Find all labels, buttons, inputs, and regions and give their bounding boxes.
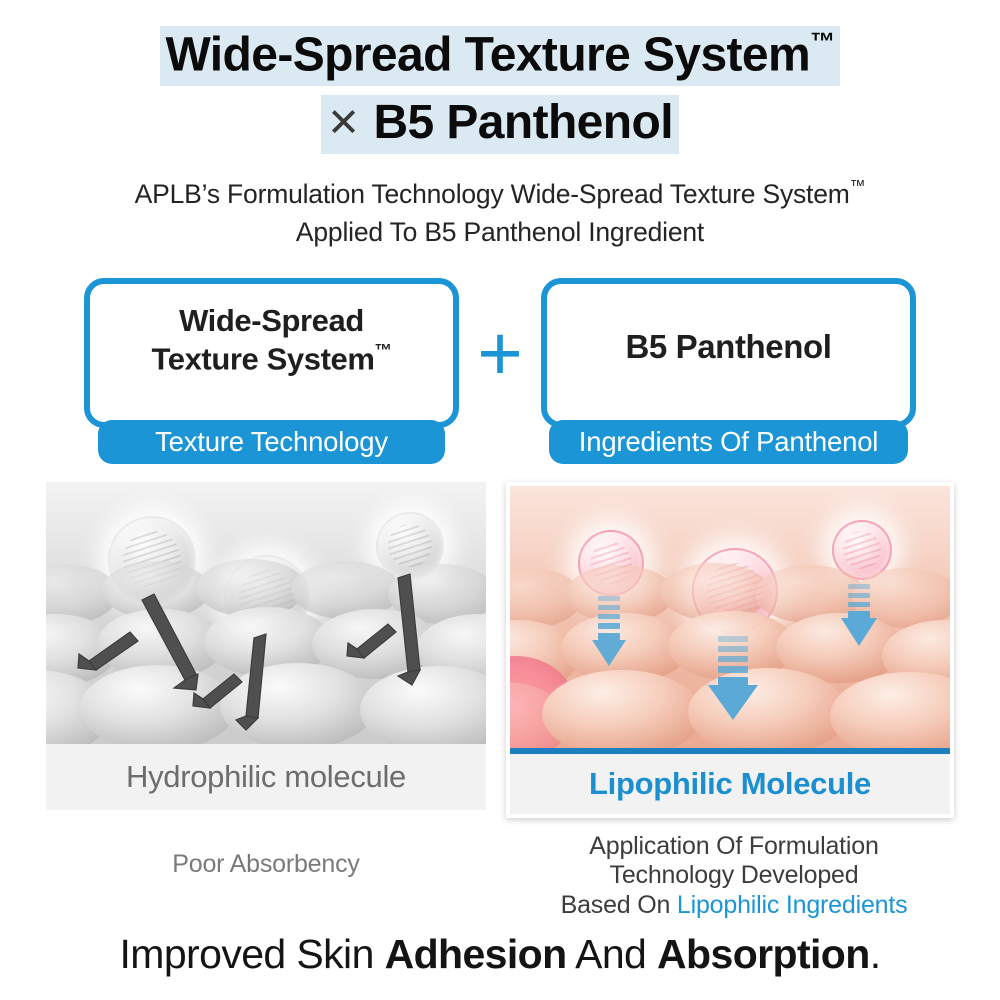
- subtitle-line-1: APLB’s Formulation Technology Wide-Sprea…: [0, 176, 1000, 214]
- card-title-line-1: Wide-Spread: [179, 303, 364, 338]
- lipophilic-label: Lipophilic Molecule: [510, 748, 950, 814]
- rejection-arrows-gray: [46, 482, 486, 744]
- caption-poor-absorbency: Poor Absorbency: [42, 824, 490, 879]
- card-b5-panthenol-title: B5 Panthenol: [615, 327, 841, 378]
- card-b5-panthenol-frame: B5 Panthenol: [541, 278, 916, 428]
- trademark-icon: ™: [810, 28, 834, 56]
- card-texture-system: Wide-Spread Texture System™ Texture Tech…: [84, 278, 459, 464]
- footer-text-c: And: [567, 931, 657, 977]
- caption-line-3-text: Based On: [561, 891, 677, 919]
- caption-line-2: Technology Developed: [510, 861, 958, 891]
- page-title: Wide-Spread Texture System™ ✕B5 Pantheno…: [0, 0, 1000, 154]
- card-texture-system-frame: Wide-Spread Texture System™: [84, 278, 459, 428]
- title-highlight-1: Wide-Spread Texture System™: [160, 26, 841, 86]
- caption-lipophilic-application: Application Of Formulation Technology De…: [510, 824, 958, 921]
- footer-bold-adhesion: Adhesion: [385, 931, 567, 977]
- card-texture-system-badge: Texture Technology: [98, 420, 445, 464]
- card-b5-panthenol-badge: Ingredients Of Panthenol: [549, 420, 908, 464]
- plus-icon: +: [459, 278, 541, 428]
- panel-lipophilic: Lipophilic Molecule: [506, 482, 954, 818]
- trademark-icon: ™: [375, 340, 392, 360]
- caption-row: Poor Absorbency Application Of Formulati…: [0, 824, 1000, 921]
- title-text-1: Wide-Spread Texture System: [166, 28, 811, 81]
- title-line-2: ✕B5 Panthenol: [0, 95, 1000, 154]
- panel-hydrophilic: Hydrophilic molecule: [46, 482, 486, 810]
- hydrophilic-illustration: [46, 482, 486, 744]
- card-texture-system-title: Wide-Spread Texture System™: [142, 302, 402, 403]
- title-text-2: B5 Panthenol: [373, 96, 673, 149]
- title-highlight-2: ✕B5 Panthenol: [321, 95, 679, 154]
- subtitle-line-2: Applied To B5 Panthenol Ingredient: [0, 214, 1000, 252]
- caption-line-3: Based On Lipophilic Ingredients: [510, 891, 958, 921]
- footer-text-a: Improved Skin: [120, 931, 385, 977]
- card-b5-panthenol: B5 Panthenol Ingredients Of Panthenol: [541, 278, 916, 464]
- hydrophilic-label: Hydrophilic molecule: [46, 744, 486, 810]
- footer-headline: Improved Skin Adhesion And Absorption.: [0, 931, 1000, 978]
- subtitle-text-1: APLB’s Formulation Technology Wide-Sprea…: [135, 179, 850, 209]
- lipophilic-illustration: [510, 486, 950, 748]
- caption-line-1: Application Of Formulation: [510, 832, 958, 862]
- caption-line-3-highlight: Lipophilic Ingredients: [677, 891, 907, 919]
- subtitle: APLB’s Formulation Technology Wide-Sprea…: [0, 176, 1000, 251]
- footer-bold-absorption: Absorption: [657, 931, 870, 977]
- footer-text-d: .: [870, 931, 881, 977]
- trademark-icon: ™: [850, 178, 866, 195]
- comparison-panel-row: Hydrophilic molecule: [0, 482, 1000, 818]
- feature-card-row: Wide-Spread Texture System™ Texture Tech…: [0, 278, 1000, 464]
- card-title-line-2: Texture System: [152, 342, 375, 377]
- title-line-1: Wide-Spread Texture System™: [0, 26, 1000, 86]
- absorption-arrows-blue: [510, 486, 950, 748]
- multiply-icon: ✕: [327, 101, 373, 145]
